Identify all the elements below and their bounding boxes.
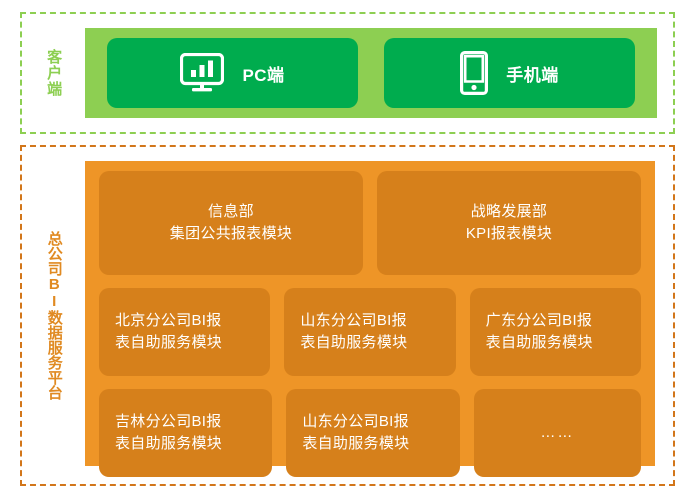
module-line: 表自助服务模块 xyxy=(302,435,409,452)
module-line: 表自助服务模块 xyxy=(486,334,593,351)
module-card-label: 战略发展部 KPI报表模块 xyxy=(466,201,552,245)
module-card-jilin[interactable]: 吉林分公司BI报 表自助服务模块 xyxy=(99,389,272,477)
module-line: 表自助服务模块 xyxy=(115,334,222,351)
module-card-label: 吉林分公司BI报 表自助服务模块 xyxy=(115,411,222,455)
module-card-guangdong[interactable]: 广东分公司BI报 表自助服务模块 xyxy=(470,288,641,376)
module-line: 表自助服务模块 xyxy=(300,334,407,351)
module-line: 表自助服务模块 xyxy=(115,435,222,452)
client-card-pc[interactable]: PC端 xyxy=(107,38,358,108)
module-card-beijing[interactable]: 北京分公司BI报 表自助服务模块 xyxy=(99,288,270,376)
platform-modules-panel: 信息部 集团公共报表模块 战略发展部 KPI报表模块 北京分公司BI报 表自助服… xyxy=(85,161,655,466)
platform-section-label-wrap: 总公司BI数据服务平台 xyxy=(22,147,85,484)
module-card-label: 山东分公司BI报 表自助服务模块 xyxy=(302,411,409,455)
module-line: KPI报表模块 xyxy=(466,225,552,242)
module-line: 信息部 xyxy=(208,203,254,220)
module-line: 广东分公司BI报 xyxy=(486,312,593,329)
module-row: 北京分公司BI报 表自助服务模块 山东分公司BI报 表自助服务模块 广东分公司B… xyxy=(99,288,641,376)
client-section: 客户端 PC端 xyxy=(20,12,675,134)
module-card-label: 北京分公司BI报 表自助服务模块 xyxy=(115,310,222,354)
client-section-label: 客户端 xyxy=(45,49,62,97)
desktop-monitor-chart-icon xyxy=(180,53,224,93)
module-line: 北京分公司BI报 xyxy=(115,312,222,329)
client-section-label-wrap: 客户端 xyxy=(22,14,85,132)
module-card-label: 广东分公司BI报 表自助服务模块 xyxy=(486,310,593,354)
module-row: 信息部 集团公共报表模块 战略发展部 KPI报表模块 xyxy=(99,171,641,275)
module-line: 山东分公司BI报 xyxy=(302,413,409,430)
module-line: 吉林分公司BI报 xyxy=(115,413,222,430)
client-card-mobile[interactable]: 手机端 xyxy=(384,38,635,108)
module-line: 山东分公司BI报 xyxy=(300,312,407,329)
module-line: 集团公共报表模块 xyxy=(170,225,292,242)
client-card-mobile-label: 手机端 xyxy=(506,61,559,86)
module-card-label: 山东分公司BI报 表自助服务模块 xyxy=(300,310,407,354)
platform-section-label: 总公司BI数据服务平台 xyxy=(45,231,62,400)
module-line: 战略发展部 xyxy=(471,203,548,220)
smartphone-icon xyxy=(460,51,488,95)
module-card-info-dept[interactable]: 信息部 集团公共报表模块 xyxy=(99,171,363,275)
module-row: 吉林分公司BI报 表自助服务模块 山东分公司BI报 表自助服务模块 …… xyxy=(99,389,641,477)
client-card-pc-label: PC端 xyxy=(242,61,284,86)
module-card-strategy-dept[interactable]: 战略发展部 KPI报表模块 xyxy=(377,171,641,275)
module-card-more[interactable]: …… xyxy=(474,389,641,477)
client-cards-panel: PC端 手机端 xyxy=(85,28,657,118)
platform-section: 总公司BI数据服务平台 信息部 集团公共报表模块 战略发展部 KPI报表模块 xyxy=(20,145,675,486)
module-card-shandong-1[interactable]: 山东分公司BI报 表自助服务模块 xyxy=(284,288,455,376)
module-card-label: …… xyxy=(540,422,574,444)
module-card-label: 信息部 集团公共报表模块 xyxy=(170,201,292,245)
module-card-shandong-2[interactable]: 山东分公司BI报 表自助服务模块 xyxy=(286,389,459,477)
